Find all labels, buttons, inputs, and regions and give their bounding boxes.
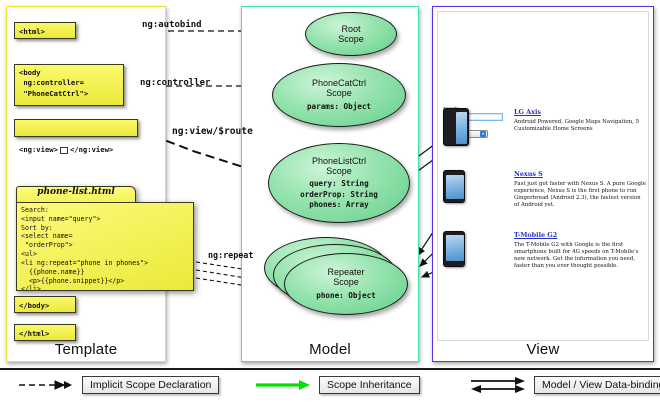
green-arrow-icon bbox=[255, 379, 311, 391]
phone-thumbnail bbox=[443, 170, 473, 203]
note-code: Search: <input name="query"> Sort by: <s… bbox=[16, 202, 194, 291]
scope-repeater-front: Repeater Scope phone: Object bbox=[284, 253, 408, 315]
phone-description: Android Powered, Google Maps Navigation,… bbox=[514, 119, 646, 133]
double-arrow-icon bbox=[470, 376, 526, 394]
code-body-open: <body ng:controller= "PhoneCatCtrl"> bbox=[14, 64, 124, 106]
scope-root-name: Root Scope bbox=[338, 24, 364, 45]
scope-phonecatctrl-name: PhoneCatCtrl Scope bbox=[312, 78, 366, 99]
ngview-placeholder-icon bbox=[60, 147, 68, 154]
legend: Implicit Scope Declaration Scope Inherit… bbox=[0, 368, 660, 405]
phone-name-link[interactable]: LG Axis bbox=[514, 108, 646, 116]
legend-item-scope-inheritance: Scope Inheritance bbox=[255, 376, 420, 394]
ngview-close-tag: </ng:view> bbox=[70, 145, 113, 155]
phone-name-link[interactable]: Nexus S bbox=[514, 170, 646, 178]
legend-label: Implicit Scope Declaration bbox=[82, 376, 219, 394]
phone-name-link[interactable]: T-Mobile G2 bbox=[514, 231, 646, 239]
phone-list-item[interactable]: Nexus S Fast just got faster with Nexus … bbox=[514, 170, 646, 209]
scope-phonelistctrl: PhoneListCtrl Scope query: String orderP… bbox=[268, 143, 410, 223]
scope-repeater-stack: Repeater Scope phone: Object bbox=[264, 237, 416, 319]
scope-phonecatctrl: PhoneCatCtrl Scope params: Object bbox=[272, 63, 406, 127]
diagram-canvas: Template Model View <html> <body ng:cont… bbox=[0, 0, 660, 405]
edge-label-repeat: ng:repeat bbox=[208, 250, 253, 260]
edge-label-route: ng:view/$route bbox=[172, 126, 253, 137]
phone-thumbnail bbox=[443, 231, 473, 267]
phone-description: Fast just got faster with Nexus S. A pur… bbox=[514, 181, 646, 210]
note-phone-list-html: phone-list.html Search: <input name="que… bbox=[16, 186, 194, 291]
legend-item-implicit-scope: Implicit Scope Declaration bbox=[18, 376, 219, 394]
view-rendered-page: Search: Google Sort by: Alphabetical ▾ L… bbox=[437, 11, 649, 341]
edge-label-controller: ng:controller bbox=[140, 78, 210, 88]
code-ngview: <ng:view> </ng:view> bbox=[14, 119, 138, 137]
legend-label: Model / View Data-binding bbox=[534, 376, 660, 394]
legend-label: Scope Inheritance bbox=[319, 376, 420, 394]
legend-item-data-binding: Model / View Data-binding bbox=[470, 376, 660, 394]
scope-phonelistctrl-name: PhoneListCtrl Scope bbox=[312, 156, 366, 177]
code-html-open: <html> bbox=[14, 22, 76, 39]
note-filename: phone-list.html bbox=[16, 187, 136, 197]
scope-repeater-props: phone: Object bbox=[316, 291, 375, 301]
phone-list-item[interactable]: T-Mobile G2 The T-Mobile G2 with Google … bbox=[514, 231, 646, 270]
scope-phonecatctrl-props: params: Object bbox=[307, 102, 371, 112]
panel-model-title: Model bbox=[242, 341, 418, 358]
phone-list-item[interactable]: LG Axis Android Powered, Google Maps Nav… bbox=[514, 108, 646, 133]
edge-label-autobind: ng:autobind bbox=[142, 20, 202, 30]
scope-root: Root Scope bbox=[305, 12, 397, 56]
chevron-down-icon: ▾ bbox=[480, 131, 486, 137]
panel-template-title: Template bbox=[7, 341, 165, 358]
scope-repeater-name: Repeater Scope bbox=[327, 267, 364, 288]
phone-thumbnail bbox=[443, 108, 473, 146]
scope-phonelistctrl-props: query: String orderProp: String phones: … bbox=[300, 179, 378, 210]
panel-view-title: View bbox=[433, 341, 653, 358]
code-html-close: </html> bbox=[14, 324, 76, 341]
ngview-open-tag: <ng:view> bbox=[19, 145, 58, 155]
phone-description: The T-Mobile G2 with Google is the first… bbox=[514, 242, 646, 271]
code-body-close: </body> bbox=[14, 296, 76, 313]
dashed-arrow-icon bbox=[18, 379, 74, 391]
